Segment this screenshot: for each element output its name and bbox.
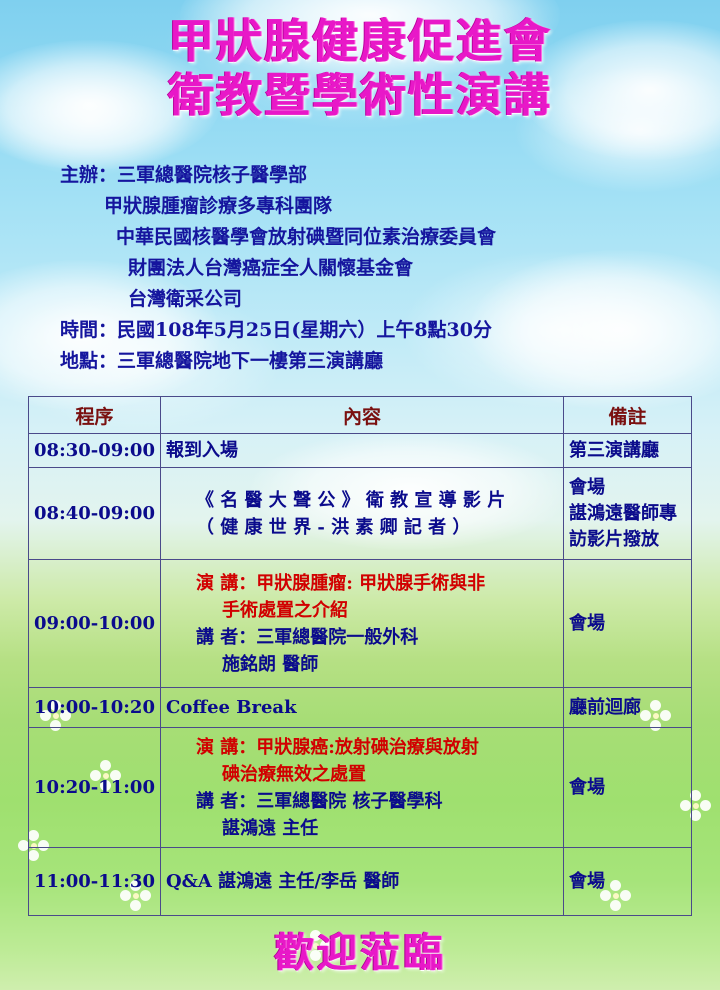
remark-line: 廳前迴廊 — [569, 695, 686, 721]
header-program: 程序 — [29, 397, 161, 434]
row-remark: 第三演講廳 — [564, 434, 692, 468]
content-line: 演 講：甲狀腺腫瘤: 甲狀腺手術與非 — [166, 570, 558, 597]
remark-line: 會場 — [569, 869, 686, 895]
table-row: 11:00-11:30 Q&A 諶鴻遠 主任/李岳 醫師 會場 — [29, 848, 692, 916]
place-row: 地點：三軍總醫院地下一樓第三演講廳 — [60, 346, 680, 377]
content-line: Q&A 諶鴻遠 主任/李岳 醫師 — [166, 868, 558, 895]
row-time: 10:00-10:20 — [29, 688, 161, 728]
agenda-table: 程序 內容 備註 08:30-09:00 報到入場 第三演講廳 — [28, 396, 692, 916]
time-row: 時間：民國108年5月25日(星期六）上午8點30分 — [60, 315, 680, 346]
row-content: 演 講：甲狀腺癌:放射碘治療與放射 碘治療無效之處置 講 者：三軍總醫院 核子醫… — [161, 728, 564, 848]
remark-line: 訪影片撥放 — [569, 527, 686, 553]
row-remark: 會場 — [564, 848, 692, 916]
content-line: （ 健 康 世 界 - 洪 素 卿 記 者 ） — [166, 514, 558, 541]
content-line: 手術處置之介紹 — [166, 597, 558, 624]
header-content: 內容 — [161, 397, 564, 434]
table-row: 10:20-11:00 演 講：甲狀腺癌:放射碘治療與放射 碘治療無效之處置 講… — [29, 728, 692, 848]
content-line: 講 者：三軍總醫院 核子醫學科 — [166, 788, 558, 815]
table-row: 08:30-09:00 報到入場 第三演講廳 — [29, 434, 692, 468]
title-line-1: 甲狀腺健康促進會 — [0, 14, 720, 68]
row-remark: 會場 — [564, 728, 692, 848]
row-content: Q&A 諶鴻遠 主任/李岳 醫師 — [161, 848, 564, 916]
organizer-5: 台灣衛采公司 — [128, 288, 242, 310]
table-row: 10:00-10:20 Coffee Break 廳前迴廊 — [29, 688, 692, 728]
content-line: 《 名 醫 大 聲 公 》 衛 教 宣 導 影 片 — [166, 487, 558, 514]
welcome-footer: 歡迎蒞臨 — [0, 920, 720, 978]
agenda-table-wrapper: 程序 內容 備註 08:30-09:00 報到入場 第三演講廳 — [28, 396, 692, 916]
content-line: 演 講：甲狀腺癌:放射碘治療與放射 — [166, 734, 558, 761]
content-line: 碘治療無效之處置 — [166, 761, 558, 788]
organizer-1: 三軍總醫院核子醫學部 — [117, 164, 307, 186]
row-content: 演 講：甲狀腺腫瘤: 甲狀腺手術與非 手術處置之介紹 講 者：三軍總醫院一般外科… — [161, 560, 564, 688]
row-remark: 會場 諶鴻遠醫師專 訪影片撥放 — [564, 468, 692, 560]
place-label: 地點： — [60, 350, 117, 372]
organizer-4: 財團法人台灣癌症全人關懷基金會 — [128, 257, 413, 279]
row-content: Coffee Break — [161, 688, 564, 728]
content-line: Coffee Break — [166, 694, 558, 721]
remark-line: 第三演講廳 — [569, 438, 686, 464]
place-value: 三軍總醫院地下一樓第三演講廳 — [117, 350, 383, 372]
remark-line: 諶鴻遠醫師專 — [569, 501, 686, 527]
row-time: 08:40-09:00 — [29, 468, 161, 560]
table-header-row: 程序 內容 備註 — [29, 397, 692, 434]
time-label: 時間： — [60, 319, 117, 341]
content-line: 講 者：三軍總醫院一般外科 — [166, 624, 558, 651]
organizer-3: 中華民國核醫學會放射碘暨同位素治療委員會 — [116, 226, 496, 248]
remark-line: 會場 — [569, 775, 686, 801]
table-row: 08:40-09:00 《 名 醫 大 聲 公 》 衛 教 宣 導 影 片 （ … — [29, 468, 692, 560]
row-time: 11:00-11:30 — [29, 848, 161, 916]
organizer-row-4: 財團法人台灣癌症全人關懷基金會 — [60, 253, 680, 284]
content-line: 諶鴻遠 主任 — [166, 815, 558, 842]
remark-line: 會場 — [569, 611, 686, 637]
organizer-row-1: 主辦：三軍總醫院核子醫學部 — [60, 160, 680, 191]
table-row: 09:00-10:00 演 講：甲狀腺腫瘤: 甲狀腺手術與非 手術處置之介紹 講… — [29, 560, 692, 688]
organizer-row-2: 甲狀腺腫瘤診療多專科團隊 — [60, 191, 680, 222]
organizer-2: 甲狀腺腫瘤診療多專科團隊 — [104, 195, 332, 217]
remark-line: 會場 — [569, 475, 686, 501]
row-remark: 會場 — [564, 560, 692, 688]
row-content: 《 名 醫 大 聲 公 》 衛 教 宣 導 影 片 （ 健 康 世 界 - 洪 … — [161, 468, 564, 560]
content-line: 報到入場 — [166, 437, 558, 464]
row-time: 10:20-11:00 — [29, 728, 161, 848]
content-line: 施銘朗 醫師 — [166, 651, 558, 678]
organizer-label: 主辦： — [60, 164, 117, 186]
header-remark: 備註 — [564, 397, 692, 434]
row-remark: 廳前迴廊 — [564, 688, 692, 728]
poster-title: 甲狀腺健康促進會 衛教暨學術性演講 — [0, 14, 720, 122]
time-value: 民國108年5月25日(星期六）上午8點30分 — [117, 319, 492, 341]
poster-background: 甲狀腺健康促進會 衛教暨學術性演講 主辦：三軍總醫院核子醫學部 甲狀腺腫瘤診療多… — [0, 0, 720, 990]
row-time: 09:00-10:00 — [29, 560, 161, 688]
organizer-row-3: 中華民國核醫學會放射碘暨同位素治療委員會 — [60, 222, 680, 253]
title-line-2: 衛教暨學術性演講 — [0, 68, 720, 122]
organizer-row-5: 台灣衛采公司 — [60, 284, 680, 315]
row-content: 報到入場 — [161, 434, 564, 468]
row-time: 08:30-09:00 — [29, 434, 161, 468]
info-block: 主辦：三軍總醫院核子醫學部 甲狀腺腫瘤診療多專科團隊 中華民國核醫學會放射碘暨同… — [60, 160, 680, 377]
